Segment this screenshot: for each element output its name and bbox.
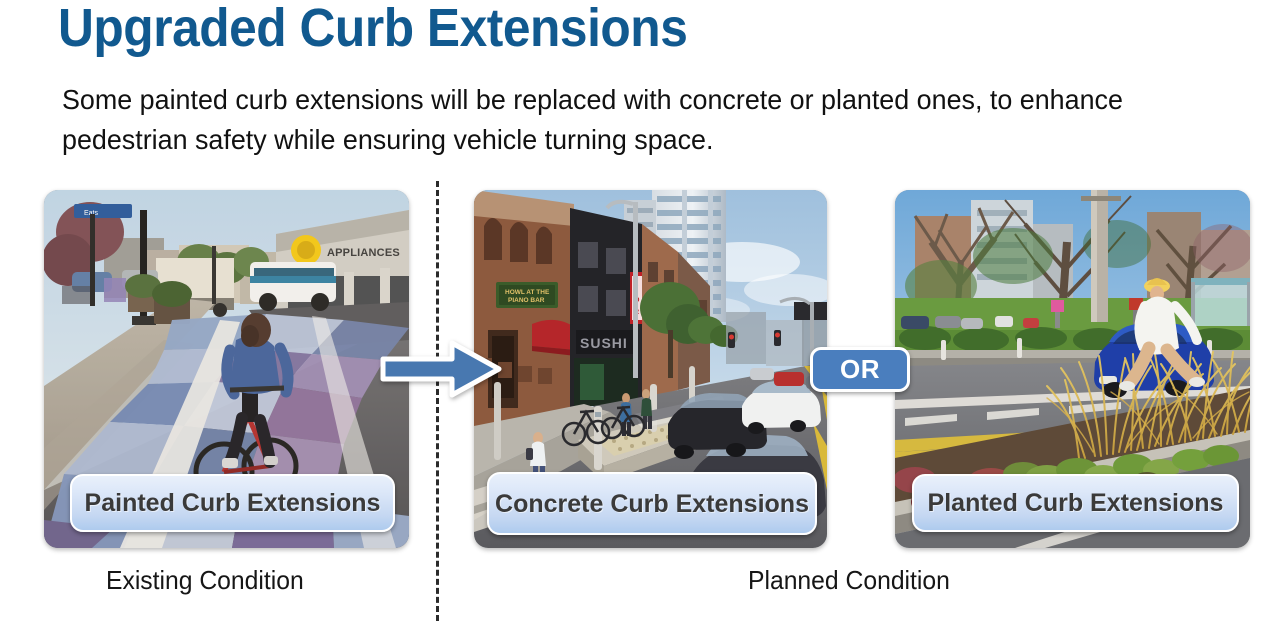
svg-text:SUSHI: SUSHI [580, 335, 628, 351]
svg-text:HOWL AT THE: HOWL AT THE [505, 289, 550, 296]
svg-text:PIANO BAR: PIANO BAR [508, 297, 545, 304]
page-subtitle: Some painted curb extensions will be rep… [62, 80, 1204, 160]
badge-planted-curb-extensions: Planted Curb Extensions [912, 474, 1239, 532]
existing-planned-divider [436, 181, 439, 621]
right-arrow-icon [380, 338, 502, 400]
slide-root: Upgraded Curb Extensions Some painted cu… [0, 0, 1280, 623]
badge-painted-curb-extensions: Painted Curb Extensions [70, 474, 395, 532]
caption-planned-condition: Planned Condition [748, 565, 950, 596]
badge-concrete-curb-extensions: Concrete Curb Extensions [487, 472, 817, 535]
page-title: Upgraded Curb Extensions [58, 0, 687, 58]
right-arrow-glyph [380, 338, 502, 400]
caption-existing-condition: Existing Condition [106, 565, 304, 596]
or-badge: OR [810, 347, 910, 392]
